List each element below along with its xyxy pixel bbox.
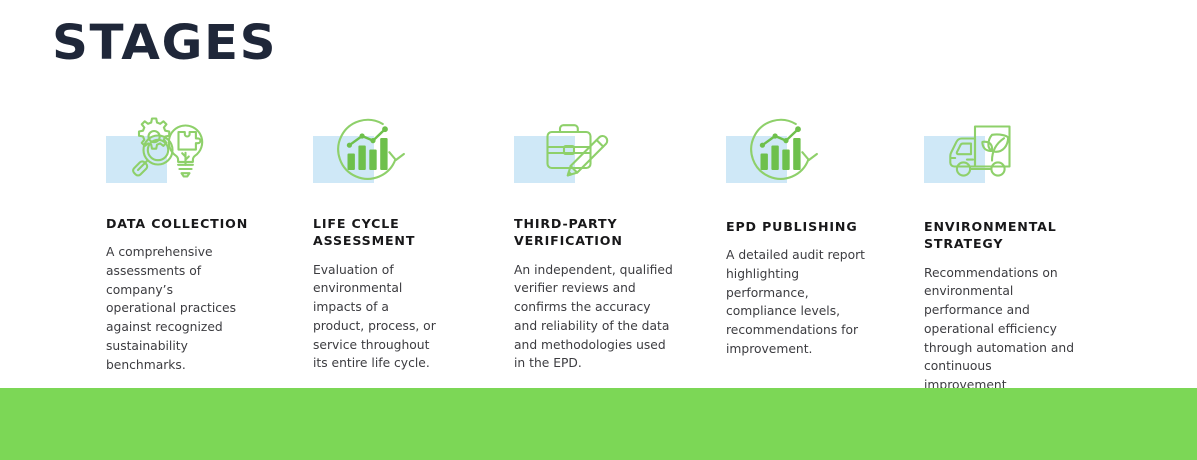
bottom-accent-band bbox=[0, 388, 1197, 460]
stage-description: Evaluation of environmental impacts of a… bbox=[313, 250, 443, 373]
stage-heading: DATA COLLECTION bbox=[106, 188, 266, 232]
stage-heading: ENVIRONMENTAL STRATEGY bbox=[924, 188, 1076, 253]
bar-chart-growth-arrow-icon bbox=[321, 112, 413, 188]
stage-icon-wrap bbox=[924, 110, 1024, 188]
stage-item-epd-publishing: EPD PUBLISHING A detailed audit report h… bbox=[726, 110, 874, 359]
stages-row: DATA COLLECTION A comprehensive assessme… bbox=[0, 110, 1197, 370]
stage-description: A comprehensive assessments of company’s… bbox=[106, 232, 246, 374]
eco-delivery-truck-leaf-icon bbox=[930, 112, 1022, 188]
briefcase-pencil-icon bbox=[526, 112, 618, 188]
stage-item-environmental-strategy: ENVIRONMENTAL STRATEGY Recommendations o… bbox=[924, 110, 1076, 395]
stage-description: An independent, qualified verifier revie… bbox=[514, 250, 674, 373]
stage-item-data-collection: DATA COLLECTION A comprehensive assessme… bbox=[106, 110, 266, 374]
page-title: STAGES bbox=[52, 18, 277, 68]
bar-chart-growth-arrow-icon bbox=[734, 112, 826, 188]
stage-icon-wrap bbox=[726, 110, 826, 188]
stage-heading: THIRD-PARTY VERIFICATION bbox=[514, 188, 679, 250]
stage-heading: LIFE CYCLE ASSESSMENT bbox=[313, 188, 453, 250]
stage-heading: EPD PUBLISHING bbox=[726, 188, 874, 235]
stage-icon-wrap bbox=[106, 110, 206, 188]
stage-icon-wrap bbox=[313, 110, 413, 188]
infographic-page: STAGES bbox=[0, 0, 1197, 460]
gear-magnifier-lightbulb-icon bbox=[118, 112, 210, 188]
stage-item-life-cycle-assessment: LIFE CYCLE ASSESSMENT Evaluation of envi… bbox=[313, 110, 453, 373]
stage-description: A detailed audit report highlighting per… bbox=[726, 235, 866, 358]
stage-description: Recommendations on environmental perform… bbox=[924, 253, 1076, 395]
stage-icon-wrap bbox=[514, 110, 614, 188]
stage-item-third-party-verification: THIRD-PARTY VERIFICATION An independent,… bbox=[514, 110, 679, 373]
